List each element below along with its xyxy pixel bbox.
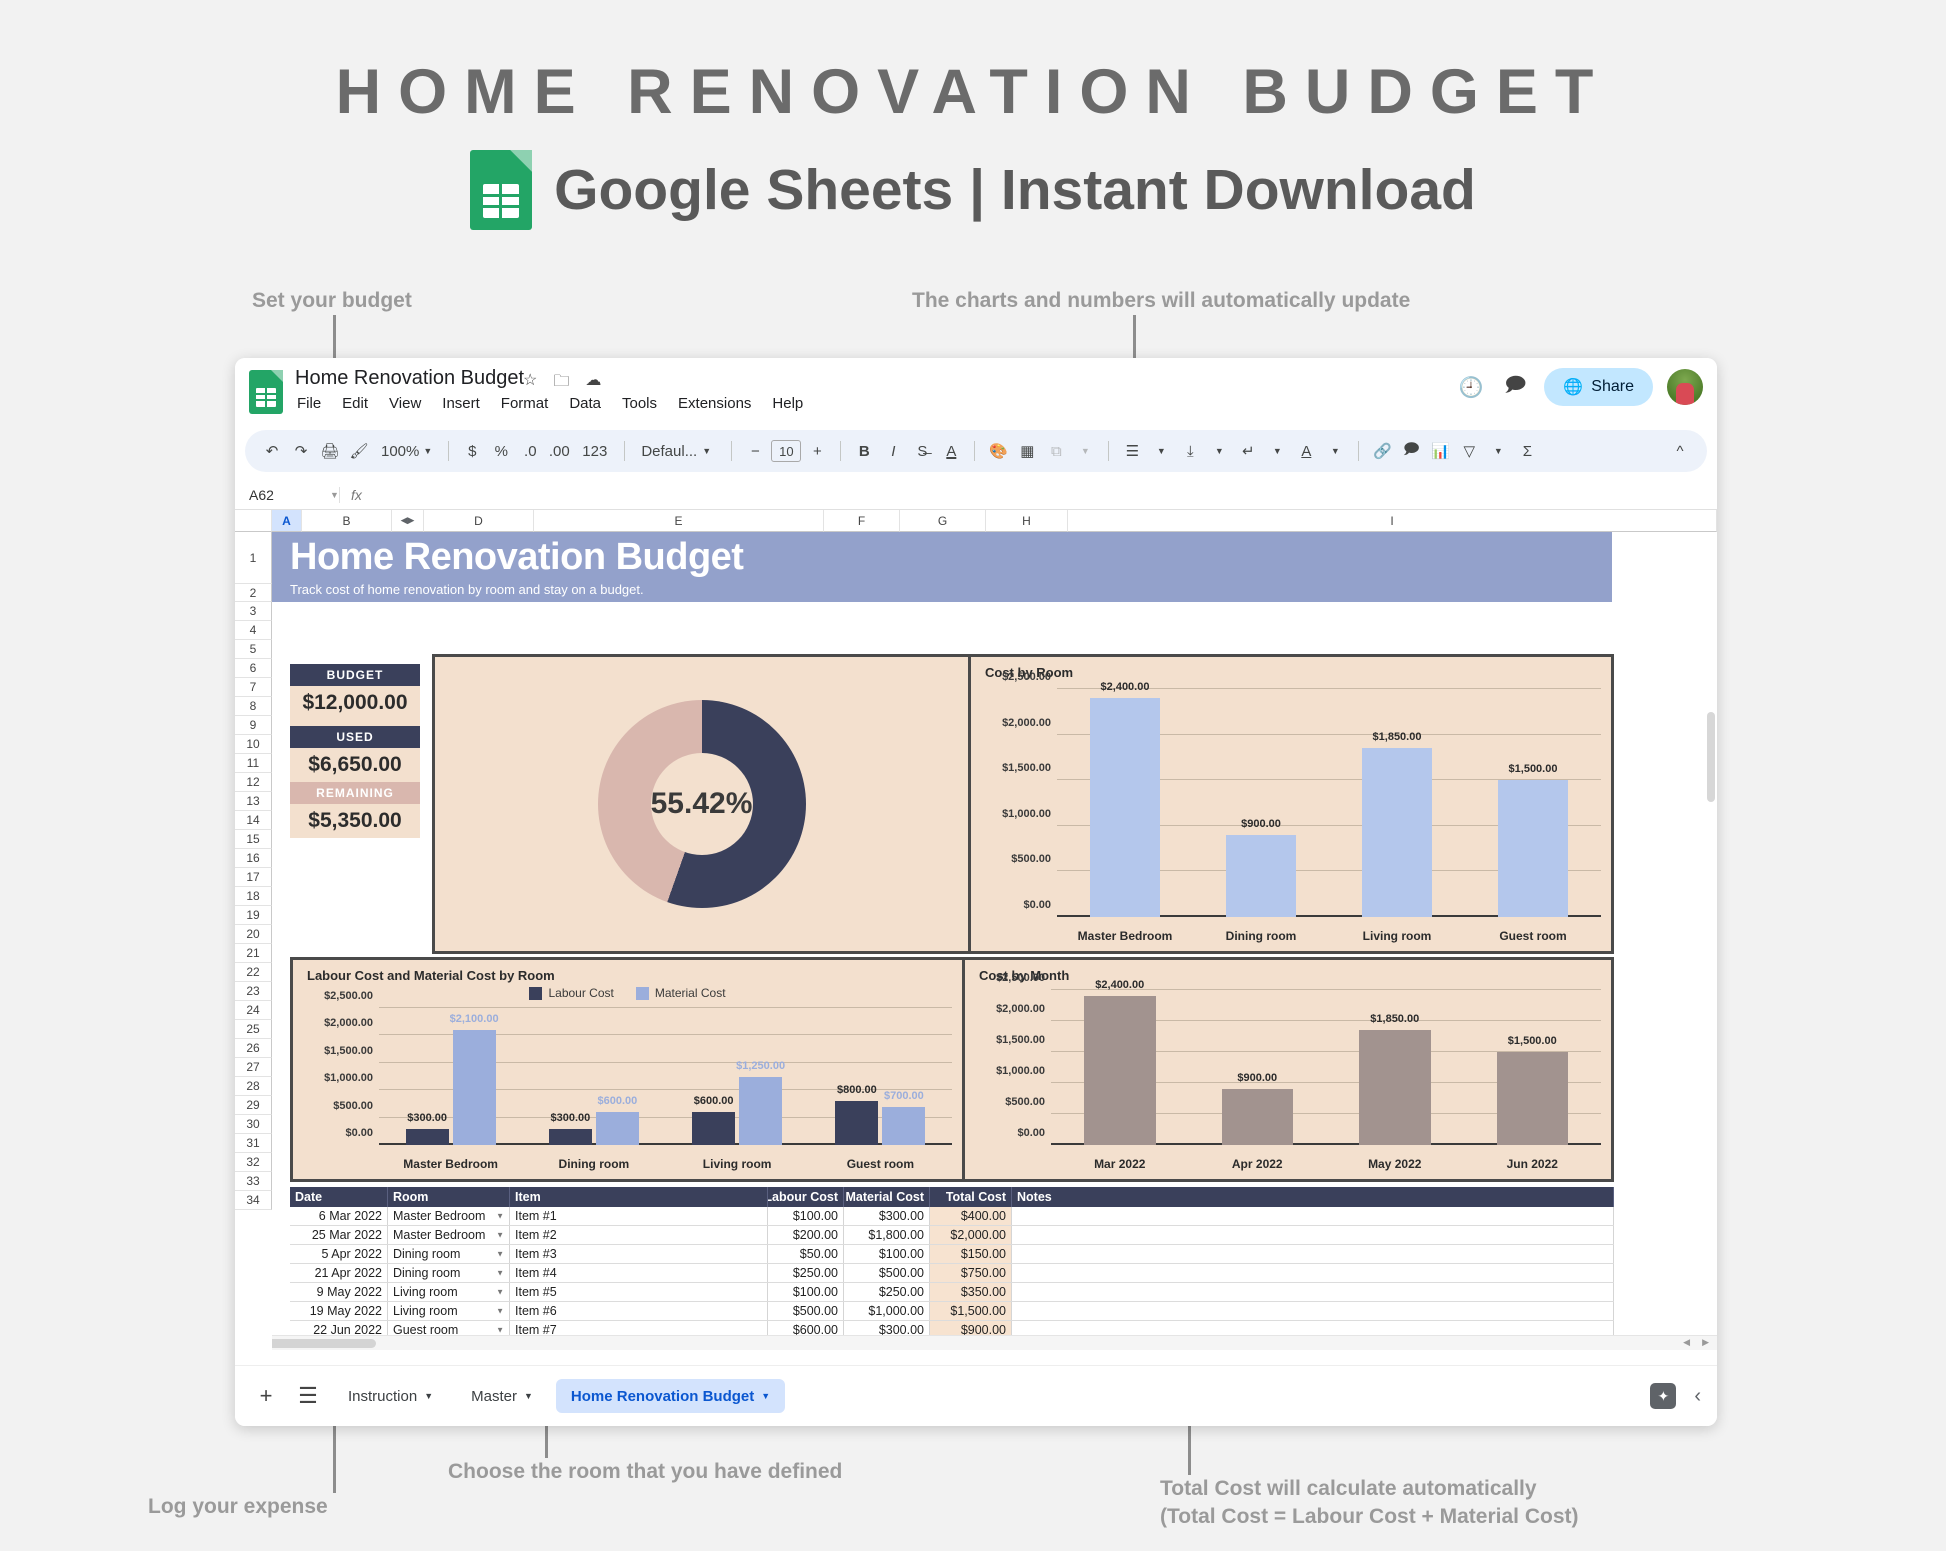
x-axis-labels: Master BedroomDining roomLiving roomGues… — [1057, 929, 1601, 943]
bar[interactable]: $1,850.00 — [1362, 748, 1433, 917]
row-header[interactable]: 9 — [235, 716, 272, 735]
row-header[interactable]: 12 — [235, 773, 272, 792]
scroll-left-icon[interactable]: ◀ — [1683, 1337, 1690, 1348]
room-dropdown-icon[interactable]: ▼ — [496, 1212, 504, 1221]
redo-button[interactable]: ↷ — [288, 436, 314, 466]
sheet-tab-bar: + ☰ Instruction ▼ Master ▼ Home Renovati… — [235, 1365, 1717, 1426]
percent-format-button[interactable]: % — [488, 436, 514, 466]
font-family-label: Defaul... — [641, 443, 697, 460]
sheet-tab-instruction[interactable]: Instruction ▼ — [333, 1379, 448, 1413]
x-axis-tick-label: Dining room — [522, 1157, 665, 1171]
table-cell-item[interactable]: Item #1 — [510, 1207, 768, 1225]
row-header[interactable]: 23 — [235, 982, 272, 1001]
column-header-d[interactable]: D — [424, 510, 534, 532]
bar-group: $800.00$700.00 — [809, 1008, 952, 1145]
row-header[interactable]: 2 — [235, 584, 272, 602]
y-axis-tick: $500.00 — [1011, 853, 1051, 865]
table-cell-total[interactable]: $150.00 — [930, 1245, 1012, 1263]
row-header[interactable]: 11 — [235, 754, 272, 773]
table-cell-room[interactable]: Living room▼ — [388, 1302, 510, 1320]
row-header[interactable]: 31 — [235, 1134, 272, 1153]
legend-label: Labour Cost — [548, 986, 613, 1000]
column-header-a[interactable]: A — [272, 510, 302, 532]
collapsed-column-c[interactable]: ◀▶ — [392, 510, 424, 532]
document-title[interactable]: Home Renovation Budget — [295, 367, 524, 390]
table-cell-labour[interactable]: $100.00 — [768, 1207, 844, 1225]
vertical-align-icon[interactable]: ⤓ — [1177, 436, 1203, 466]
row-header[interactable]: 16 — [235, 849, 272, 868]
chevron-down-icon[interactable]: ▼ — [1148, 436, 1174, 466]
sheet-tab-label: Master — [471, 1388, 517, 1405]
scroll-right-icon[interactable]: ▶ — [1702, 1337, 1709, 1348]
y-axis-tick: $0.00 — [1023, 899, 1051, 911]
bar[interactable]: $1,250.00 — [739, 1077, 782, 1146]
plot-area: $300.00$2,100.00$300.00$600.00$600.00$1,… — [379, 1008, 952, 1145]
plot-area: $2,400.00$900.00$1,850.00$1,500.00 — [1051, 990, 1601, 1145]
bar[interactable]: $900.00 — [1226, 835, 1297, 917]
bar-group: $600.00$1,250.00 — [666, 1008, 809, 1145]
paint-format-icon[interactable]: 🖌 — [346, 436, 372, 466]
table-cell-material[interactable]: $300.00 — [844, 1207, 930, 1225]
vertical-scrollbar[interactable] — [1707, 712, 1715, 802]
table-cell-total[interactable]: $350.00 — [930, 1283, 1012, 1301]
table-cell-notes[interactable] — [1012, 1283, 1614, 1301]
star-icon[interactable]: ☆ — [523, 370, 537, 397]
table-cell-item[interactable]: Item #3 — [510, 1245, 768, 1263]
fx-icon: fx — [339, 487, 373, 503]
bar-group: $1,500.00 — [1465, 689, 1601, 917]
chevron-left-icon[interactable]: ‹ — [1694, 1385, 1701, 1408]
row-header[interactable]: 15 — [235, 830, 272, 849]
chevron-down-icon[interactable]: ▼ — [330, 490, 339, 500]
y-axis-tick: $0.00 — [345, 1127, 373, 1139]
font-size-input[interactable]: 10 — [771, 440, 801, 462]
bar-group: $900.00 — [1193, 689, 1329, 917]
x-axis-tick-label: Guest room — [1465, 929, 1601, 943]
table-cell-date[interactable]: 25 Mar 2022 — [290, 1226, 388, 1244]
row-header[interactable]: 7 — [235, 678, 272, 697]
kpi-label-used: USED — [290, 726, 420, 748]
table-cell-material[interactable]: $1,800.00 — [844, 1226, 930, 1244]
kpi-value-budget[interactable]: $12,000.00 — [290, 686, 420, 720]
move-to-folder-icon[interactable]: 🗀 — [553, 370, 569, 397]
google-sheets-window: Home Renovation Budget ☆ 🗀 ☁ File Edit V… — [235, 358, 1717, 1426]
increase-decimal-button[interactable]: .00 — [546, 436, 572, 466]
row-header[interactable]: 14 — [235, 811, 272, 830]
horizontal-scrollbar[interactable]: ◀ ▶ — [235, 1335, 1717, 1350]
table-cell-date[interactable]: 6 Mar 2022 — [290, 1207, 388, 1225]
room-dropdown-icon[interactable]: ▼ — [496, 1307, 504, 1316]
dashboard-row-1: 55.42% Cost by Room $0.00$500.00$1,000.0… — [432, 654, 1614, 954]
callout-total-cost: Total Cost will calculate automatically … — [1160, 1475, 1578, 1532]
table-cell-material[interactable]: $250.00 — [844, 1283, 930, 1301]
kpi-panel: BUDGET $12,000.00 USED $6,650.00 REMAINI… — [290, 664, 420, 838]
bar[interactable]: $2,400.00 — [1090, 698, 1161, 917]
insert-comment-icon[interactable]: 🗩 — [1398, 436, 1424, 466]
y-axis: $0.00$500.00$1,000.00$1,500.00$2,000.00$… — [973, 990, 1049, 1145]
x-axis-tick-label: Apr 2022 — [1189, 1157, 1327, 1171]
bar[interactable]: $300.00 — [406, 1129, 449, 1145]
chart-cost-by-room[interactable]: Cost by Room $0.00$500.00$1,000.00$1,500… — [971, 657, 1611, 951]
callout-choose-room: Choose the room that you have defined — [448, 1458, 842, 1486]
scroll-arrows[interactable]: ◀ ▶ — [1683, 1337, 1709, 1348]
menu-edit[interactable]: Edit — [340, 394, 370, 413]
row-header[interactable]: 21 — [235, 944, 272, 963]
version-history-icon[interactable]: 🕘 — [1456, 372, 1486, 402]
sheet-tab-home-renovation-budget[interactable]: Home Renovation Budget ▼ — [556, 1379, 785, 1413]
sheets-app-icon[interactable] — [249, 370, 283, 414]
bar-data-label: $1,500.00 — [1508, 1035, 1557, 1047]
table-cell-notes[interactable] — [1012, 1245, 1614, 1263]
row-header[interactable]: 25 — [235, 1020, 272, 1039]
table-cell-material[interactable]: $500.00 — [844, 1264, 930, 1282]
room-dropdown-icon[interactable]: ▼ — [496, 1269, 504, 1278]
column-header-item: Item — [510, 1187, 768, 1207]
toolbar: ↶ ↷ 🖨 🖌 100% ▼ $ % .0 .00 123 Defaul... … — [245, 430, 1707, 472]
bar-data-label: $1,850.00 — [1370, 1013, 1419, 1025]
column-header-f[interactable]: F — [824, 510, 900, 532]
filter-icon[interactable]: ▽ — [1456, 436, 1482, 466]
insert-chart-icon[interactable]: 📊 — [1427, 436, 1453, 466]
align-icon[interactable]: ☰ — [1119, 436, 1145, 466]
bar-group: $300.00$600.00 — [522, 1008, 665, 1145]
legend-item[interactable]: Labour Cost — [529, 986, 613, 1000]
currency-format-button[interactable]: $ — [459, 436, 485, 466]
add-sheet-icon[interactable]: + — [249, 1379, 283, 1413]
select-all-corner[interactable] — [235, 510, 272, 532]
bar-data-label: $900.00 — [1237, 1072, 1277, 1084]
y-axis-tick: $2,000.00 — [996, 1003, 1045, 1015]
x-axis-labels: Master BedroomDining roomLiving roomGues… — [379, 1157, 952, 1171]
sheet-banner: Home Renovation Budget Track cost of hom… — [272, 532, 1612, 602]
row-header[interactable]: 3 — [235, 602, 272, 621]
table-cell-room[interactable]: Master Bedroom▼ — [388, 1207, 510, 1225]
sheet-tab-master[interactable]: Master ▼ — [456, 1379, 548, 1413]
expense-table: Date Room Item Labour Cost Material Cost… — [290, 1187, 1614, 1340]
callout-total-cost-line1: Total Cost will calculate automatically — [1160, 1475, 1578, 1503]
row-header[interactable]: 20 — [235, 925, 272, 944]
bar-data-label: $2,100.00 — [450, 1013, 499, 1025]
x-axis-tick-label: Master Bedroom — [1057, 929, 1193, 943]
sheet-content: Home Renovation Budget Track cost of hom… — [272, 532, 1717, 1350]
promo-page: HOME RENOVATION BUDGET Google Sheets | I… — [0, 0, 1946, 1551]
menu-view[interactable]: View — [387, 394, 423, 413]
bar[interactable]: $1,500.00 — [1497, 1052, 1569, 1145]
row-header[interactable]: 19 — [235, 906, 272, 925]
table-cell-material[interactable]: $1,000.00 — [844, 1302, 930, 1320]
x-axis-tick-label: Guest room — [809, 1157, 952, 1171]
y-axis-tick: $1,000.00 — [324, 1072, 373, 1084]
bar-group: $1,850.00 — [1326, 990, 1464, 1145]
table-row[interactable]: 5 Apr 2022Dining room▼Item #3$50.00$100.… — [290, 1245, 1614, 1264]
legend-item[interactable]: Material Cost — [636, 986, 726, 1000]
share-button[interactable]: 🌐 Share — [1544, 368, 1653, 406]
bold-button[interactable]: B — [851, 436, 877, 466]
row-header[interactable]: 22 — [235, 963, 272, 982]
bar[interactable]: $1,500.00 — [1498, 780, 1569, 917]
y-axis-tick: $0.00 — [1017, 1127, 1045, 1139]
row-header[interactable]: 32 — [235, 1153, 272, 1172]
divider — [1108, 441, 1109, 461]
bar-data-label: $300.00 — [407, 1112, 447, 1124]
table-cell-date[interactable]: 5 Apr 2022 — [290, 1245, 388, 1263]
y-axis-tick: $2,000.00 — [1002, 717, 1051, 729]
divider — [974, 441, 975, 461]
menu-help[interactable]: Help — [770, 394, 805, 413]
functions-icon[interactable]: Σ — [1514, 436, 1540, 466]
bar[interactable]: $800.00 — [835, 1101, 878, 1145]
room-dropdown-icon[interactable]: ▼ — [496, 1326, 504, 1335]
table-cell-labour[interactable]: $50.00 — [768, 1245, 844, 1263]
table-cell-date[interactable]: 9 May 2022 — [290, 1283, 388, 1301]
donut-center-label: 55.42% — [651, 753, 753, 855]
comment-icon[interactable]: 🗩 — [1500, 372, 1530, 402]
table-row[interactable]: 9 May 2022Living room▼Item #5$100.00$250… — [290, 1283, 1614, 1302]
column-header-material-cost: Material Cost — [844, 1187, 930, 1207]
bar-data-label: $700.00 — [884, 1090, 924, 1102]
x-axis-tick-label: May 2022 — [1326, 1157, 1464, 1171]
all-sheets-icon[interactable]: ☰ — [291, 1379, 325, 1413]
chevron-down-icon[interactable]: ▼ — [1264, 436, 1290, 466]
chevron-down-icon: ▼ — [423, 446, 432, 456]
chart-budget-usage-donut[interactable]: 55.42% — [435, 657, 971, 951]
x-axis-tick-label: Living room — [1329, 929, 1465, 943]
menu-bar: File Edit View Insert Format Data Tools … — [295, 394, 805, 413]
chart-cost-by-month[interactable]: Cost by Month $0.00$500.00$1,000.00$1,50… — [965, 960, 1611, 1179]
text-wrap-icon[interactable]: ↵ — [1235, 436, 1261, 466]
row-header[interactable]: 13 — [235, 792, 272, 811]
strikethrough-button[interactable]: S̶ — [909, 436, 935, 466]
fill-color-icon[interactable]: 🎨 — [985, 436, 1011, 466]
bars-container: $300.00$2,100.00$300.00$600.00$600.00$1,… — [379, 1008, 952, 1145]
table-cell-total[interactable]: $400.00 — [930, 1207, 1012, 1225]
chart-labour-material-by-room[interactable]: Labour Cost and Material Cost by Room $0… — [293, 960, 965, 1179]
column-header-i[interactable]: I — [1068, 510, 1717, 532]
chevron-down-icon[interactable]: ▼ — [424, 1391, 433, 1401]
column-header-h[interactable]: H — [986, 510, 1068, 532]
y-axis-tick: $1,500.00 — [324, 1045, 373, 1057]
text-rotation-icon[interactable]: A — [1293, 436, 1319, 466]
bar[interactable]: $700.00 — [882, 1107, 925, 1145]
sheet-banner-title: Home Renovation Budget — [290, 536, 1612, 579]
y-axis-tick: $500.00 — [333, 1100, 373, 1112]
bar[interactable]: $2,400.00 — [1084, 996, 1156, 1145]
table-cell-labour[interactable]: $100.00 — [768, 1283, 844, 1301]
row-header[interactable]: 30 — [235, 1115, 272, 1134]
undo-button[interactable]: ↶ — [259, 436, 285, 466]
table-cell-item[interactable]: Item #2 — [510, 1226, 768, 1244]
x-axis-labels: Mar 2022Apr 2022May 2022Jun 2022 — [1051, 1157, 1601, 1171]
row-header[interactable]: 28 — [235, 1077, 272, 1096]
row-header[interactable]: 34 — [235, 1191, 272, 1210]
table-cell-total[interactable]: $1,500.00 — [930, 1302, 1012, 1320]
bar[interactable]: $600.00 — [692, 1112, 735, 1145]
row-header[interactable]: 6 — [235, 659, 272, 678]
table-cell-room[interactable]: Dining room▼ — [388, 1264, 510, 1282]
table-cell-material[interactable]: $100.00 — [844, 1245, 930, 1263]
sheet-banner-subtitle: Track cost of home renovation by room an… — [290, 582, 1612, 597]
y-axis-tick: $2,500.00 — [1002, 671, 1051, 683]
font-family-selector[interactable]: Defaul... ▼ — [635, 443, 721, 460]
x-axis-tick-label: Mar 2022 — [1051, 1157, 1189, 1171]
text-color-button[interactable]: A — [938, 436, 964, 466]
callout-set-budget: Set your budget — [252, 287, 412, 315]
row-header[interactable]: 5 — [235, 640, 272, 659]
row-header[interactable]: 33 — [235, 1172, 272, 1191]
y-axis-tick: $1,500.00 — [1002, 762, 1051, 774]
row-header[interactable]: 1 — [235, 532, 272, 584]
row-header[interactable]: 4 — [235, 621, 272, 640]
page-title: HOME RENOVATION BUDGET — [0, 56, 1946, 128]
kpi-label-remaining: REMAINING — [290, 782, 420, 804]
bar-data-label: $600.00 — [597, 1095, 637, 1107]
x-axis-tick-label: Master Bedroom — [379, 1157, 522, 1171]
insert-link-icon[interactable]: 🔗 — [1369, 436, 1395, 466]
bar[interactable]: $600.00 — [596, 1112, 639, 1145]
column-header-e[interactable]: E — [534, 510, 824, 532]
table-row[interactable]: 21 Apr 2022Dining room▼Item #4$250.00$50… — [290, 1264, 1614, 1283]
y-axis-tick: $1,000.00 — [1002, 808, 1051, 820]
merge-cells-icon[interactable]: ⧉ — [1043, 436, 1069, 466]
y-axis-tick: $2,000.00 — [324, 1017, 373, 1029]
x-axis-tick-label: Dining room — [1193, 929, 1329, 943]
row-header[interactable]: 24 — [235, 1001, 272, 1020]
row-header[interactable]: 18 — [235, 887, 272, 906]
borders-icon[interactable]: ▦ — [1014, 436, 1040, 466]
promo-subtitle-row: Google Sheets | Instant Download — [0, 150, 1946, 230]
table-row[interactable]: 6 Mar 2022Master Bedroom▼Item #1$100.00$… — [290, 1207, 1614, 1226]
cloud-saved-icon[interactable]: ☁ — [585, 370, 601, 397]
bar-data-label: $2,400.00 — [1095, 979, 1144, 991]
legend-swatch — [529, 987, 542, 1000]
table-row[interactable]: 25 Mar 2022Master Bedroom▼Item #2$200.00… — [290, 1226, 1614, 1245]
menu-format[interactable]: Format — [499, 394, 551, 413]
formula-bar: A62 ▼ fx — [235, 480, 1717, 510]
bar[interactable]: $1,850.00 — [1359, 1030, 1431, 1145]
explore-icon[interactable]: ✦ — [1650, 1383, 1676, 1409]
chevron-down-icon[interactable]: ▼ — [1206, 436, 1232, 466]
chevron-down-icon[interactable]: ▼ — [1072, 436, 1098, 466]
y-axis-tick: $1,000.00 — [996, 1065, 1045, 1077]
y-axis-tick: $1,500.00 — [996, 1034, 1045, 1046]
column-header-notes: Notes — [1012, 1187, 1614, 1207]
legend-swatch — [636, 987, 649, 1000]
row-header[interactable]: 10 — [235, 735, 272, 754]
chevron-down-icon[interactable]: ▼ — [524, 1391, 533, 1401]
chevron-down-icon[interactable]: ▼ — [1485, 436, 1511, 466]
callout-log-expense: Log your expense — [148, 1493, 328, 1521]
x-axis-tick-label: Living room — [666, 1157, 809, 1171]
divider — [624, 441, 625, 461]
table-cell-notes[interactable] — [1012, 1207, 1614, 1225]
bar-data-label: $1,250.00 — [736, 1060, 785, 1072]
column-header-b[interactable]: B — [302, 510, 392, 532]
table-row[interactable]: 19 May 2022Living room▼Item #6$500.00$1,… — [290, 1302, 1614, 1321]
room-dropdown-icon[interactable]: ▼ — [496, 1288, 504, 1297]
promo-subtitle: Google Sheets | Instant Download — [554, 157, 1476, 223]
row-header[interactable]: 27 — [235, 1058, 272, 1077]
column-header-room: Room — [388, 1187, 510, 1207]
sheet-tab-label: Instruction — [348, 1388, 417, 1405]
collapse-toolbar-icon[interactable]: ^ — [1667, 436, 1693, 466]
table-cell-labour[interactable]: $500.00 — [768, 1302, 844, 1320]
divider — [448, 441, 449, 461]
bar[interactable]: $2,100.00 — [453, 1030, 496, 1145]
decrease-decimal-button[interactable]: .0 — [517, 436, 543, 466]
italic-button[interactable]: I — [880, 436, 906, 466]
row-header[interactable]: 17 — [235, 868, 272, 887]
table-cell-item[interactable]: Item #6 — [510, 1302, 768, 1320]
table-cell-labour[interactable]: $200.00 — [768, 1226, 844, 1244]
chevron-down-icon[interactable]: ▼ — [1322, 436, 1348, 466]
table-cell-date[interactable]: 21 Apr 2022 — [290, 1264, 388, 1282]
table-cell-room[interactable]: Dining room▼ — [388, 1245, 510, 1263]
bar-data-label: $1,850.00 — [1373, 731, 1422, 743]
table-cell-notes[interactable] — [1012, 1264, 1614, 1282]
row-header[interactable]: 29 — [235, 1096, 272, 1115]
room-dropdown-icon[interactable]: ▼ — [496, 1250, 504, 1259]
sheet-tab-label: Home Renovation Budget — [571, 1388, 754, 1405]
table-cell-item[interactable]: Item #4 — [510, 1264, 768, 1282]
google-sheets-icon — [470, 150, 532, 230]
divider — [731, 441, 732, 461]
chevron-down-icon[interactable]: ▼ — [761, 1391, 770, 1401]
table-cell-total[interactable]: $2,000.00 — [930, 1226, 1012, 1244]
app-header: Home Renovation Budget ☆ 🗀 ☁ File Edit V… — [235, 358, 1717, 428]
title-icon-group: ☆ 🗀 ☁ — [523, 370, 601, 397]
name-box[interactable]: A62 — [235, 487, 330, 503]
bar[interactable]: $300.00 — [549, 1129, 592, 1145]
row-header[interactable]: 8 — [235, 697, 272, 716]
table-cell-notes[interactable] — [1012, 1302, 1614, 1320]
kpi-label-budget: BUDGET — [290, 664, 420, 686]
room-dropdown-icon[interactable]: ▼ — [496, 1231, 504, 1240]
bar-data-label: $800.00 — [837, 1084, 877, 1096]
bar-data-label: $2,400.00 — [1101, 681, 1150, 693]
menu-extensions[interactable]: Extensions — [676, 394, 753, 413]
bar[interactable]: $900.00 — [1222, 1089, 1294, 1145]
chevron-down-icon: ▼ — [702, 446, 711, 456]
x-axis-tick-label: Jun 2022 — [1464, 1157, 1602, 1171]
table-cell-date[interactable]: 19 May 2022 — [290, 1302, 388, 1320]
menu-insert[interactable]: Insert — [440, 394, 482, 413]
column-header-g[interactable]: G — [900, 510, 986, 532]
menu-file[interactable]: File — [295, 394, 323, 413]
more-formats-button[interactable]: 123 — [575, 436, 614, 466]
divider — [1358, 441, 1359, 461]
menu-tools[interactable]: Tools — [620, 394, 659, 413]
table-cell-notes[interactable] — [1012, 1226, 1614, 1244]
increase-font-size-button[interactable]: + — [804, 436, 830, 466]
row-header[interactable]: 26 — [235, 1039, 272, 1058]
table-cell-room[interactable]: Living room▼ — [388, 1283, 510, 1301]
zoom-selector[interactable]: 100% ▼ — [375, 443, 438, 460]
plot-area: $2,400.00$900.00$1,850.00$1,500.00 — [1057, 689, 1601, 917]
donut-chart: 55.42% — [598, 700, 806, 908]
y-axis-tick: $2,500.00 — [996, 972, 1045, 984]
table-cell-labour[interactable]: $250.00 — [768, 1264, 844, 1282]
print-icon[interactable]: 🖨 — [317, 436, 343, 466]
avatar[interactable] — [1667, 369, 1703, 405]
menu-data[interactable]: Data — [567, 394, 603, 413]
decrease-font-size-button[interactable]: − — [742, 436, 768, 466]
table-cell-item[interactable]: Item #5 — [510, 1283, 768, 1301]
table-cell-room[interactable]: Master Bedroom▼ — [388, 1226, 510, 1244]
kpi-value-remaining: $5,350.00 — [290, 804, 420, 838]
chart-legend: Labour CostMaterial Cost — [293, 986, 962, 1000]
table-cell-total[interactable]: $750.00 — [930, 1264, 1012, 1282]
column-header-labour-cost: Labour Cost — [768, 1187, 844, 1207]
